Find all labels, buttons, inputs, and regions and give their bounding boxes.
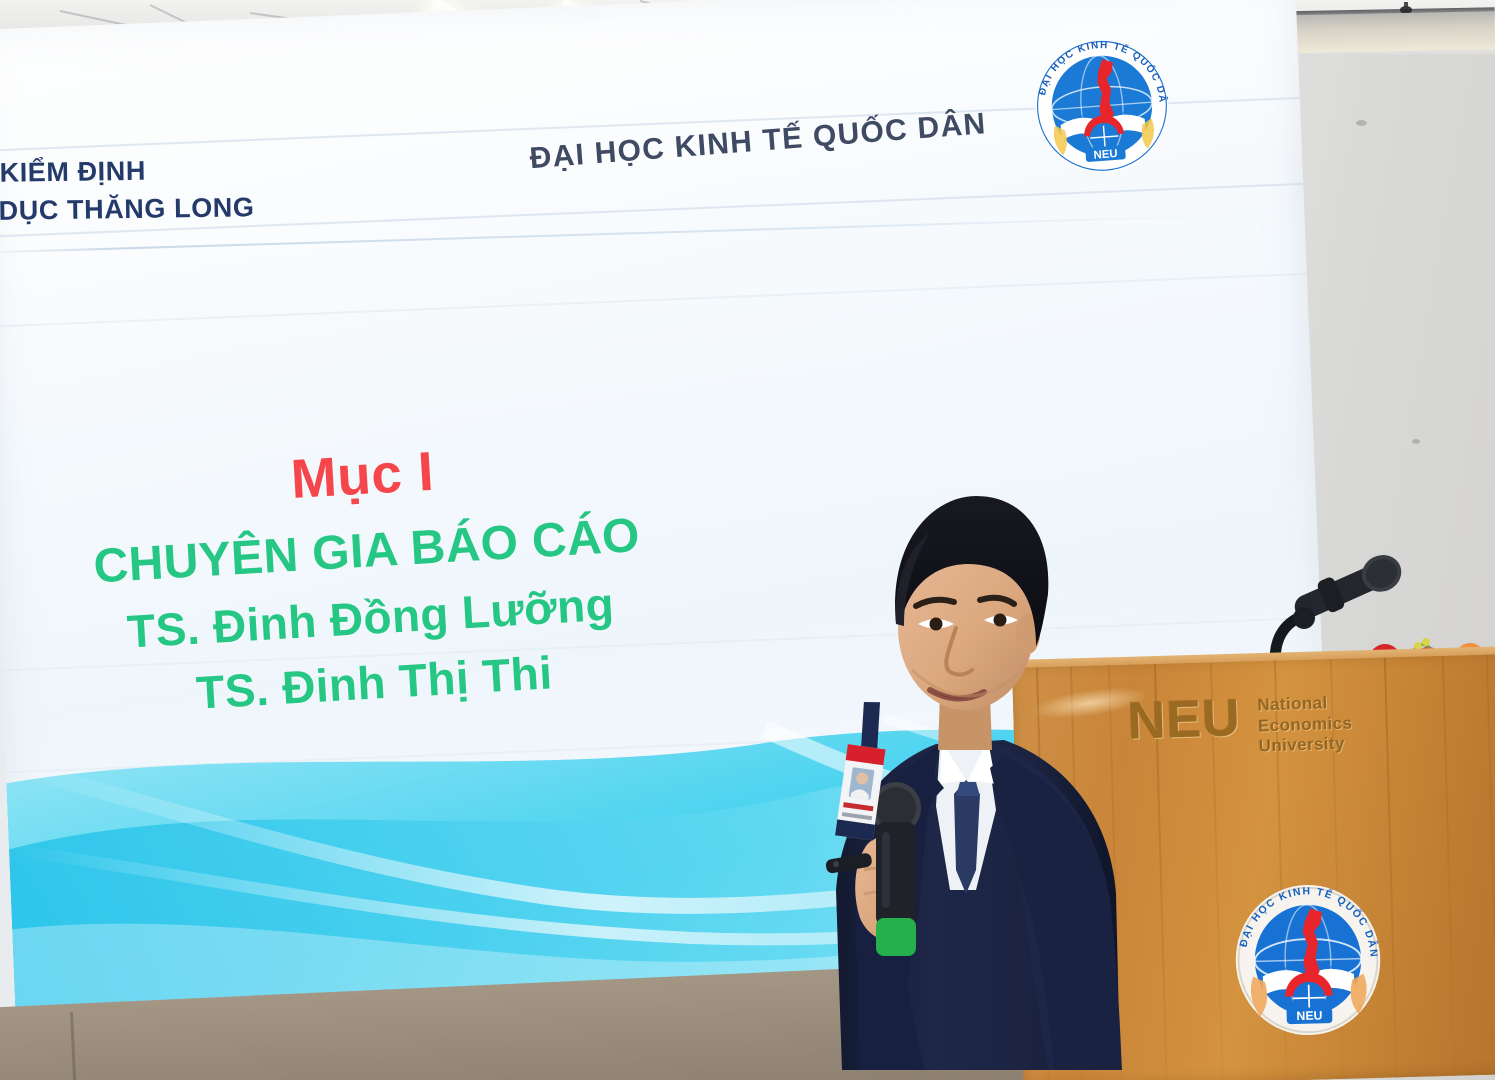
podium-subtitle-line3: University	[1258, 734, 1353, 758]
podium-subtitle: National Economics University	[1257, 693, 1353, 758]
podium-subtitle-line2: Economics	[1258, 713, 1353, 737]
speaker-person	[790, 370, 1150, 1080]
handheld-microphone	[871, 782, 921, 956]
neu-emblem-icon: NEU ĐẠI HỌC KINH TẾ QUỐC DÂN	[1230, 880, 1386, 1040]
neu-logo-icon: NEU ĐẠI HỌC KINH TẾ QUỐC DÂN	[1023, 30, 1181, 183]
presentation-photo-scene: ÂM KIỂM ĐỊNH ÁO DỤC THĂNG LONG ĐẠI HỌC K…	[0, 0, 1495, 1080]
slide-logo-banner-text: NEU	[1093, 148, 1118, 162]
slide-body: Mục I CHUYÊN GIA BÁO CÁO TS. Đinh Đồng L…	[31, 426, 706, 735]
podium-emblem-banner-text: NEU	[1296, 1008, 1323, 1023]
slide-header-left-line1: ÂM KIỂM ĐỊNH	[0, 149, 309, 192]
presentation-clicker[interactable]	[824, 846, 876, 882]
podium-subtitle-line1: National	[1257, 693, 1352, 717]
slide-header-left: ÂM KIỂM ĐỊNH ÁO DỤC THĂNG LONG	[0, 149, 309, 231]
slide-header-left-line2: ÁO DỤC THĂNG LONG	[0, 188, 309, 231]
slide-header-center: ĐẠI HỌC KINH TẾ QUỐC DÂN	[528, 107, 987, 176]
